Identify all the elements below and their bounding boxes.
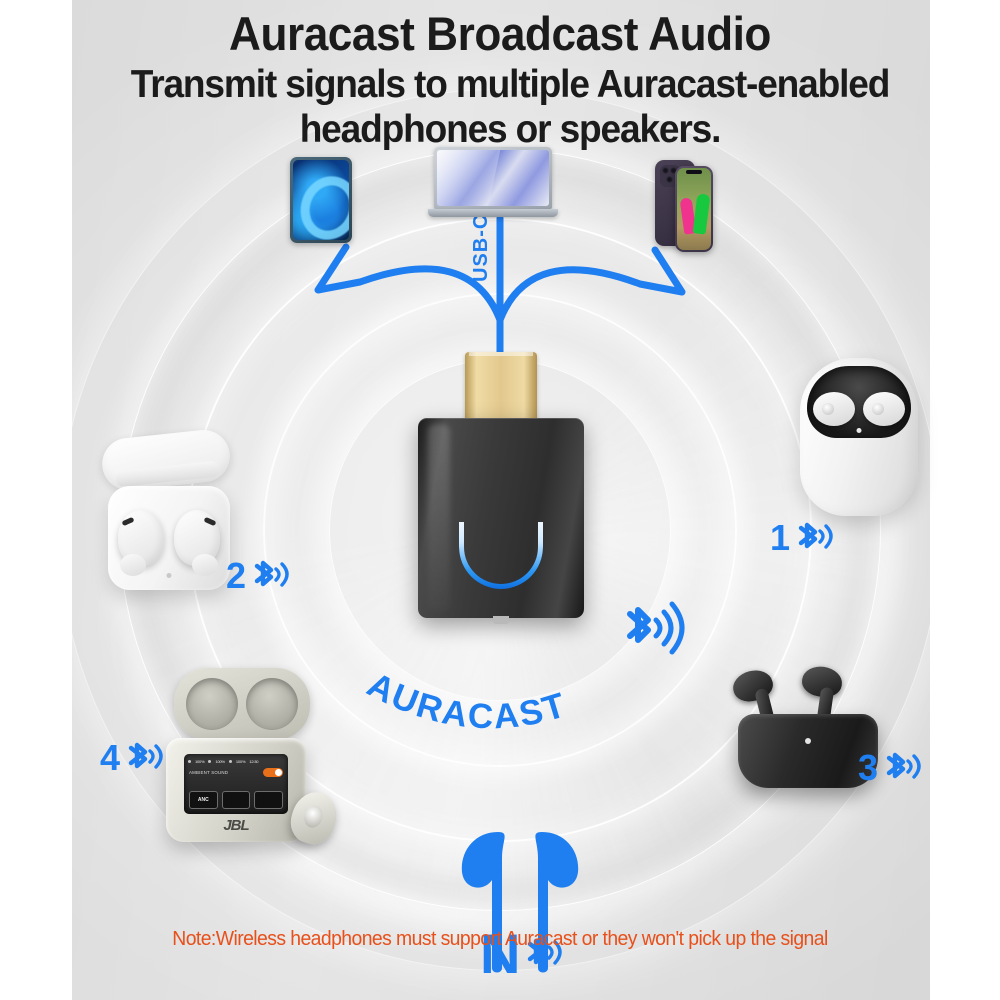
receiver-4-label: 4 bbox=[100, 738, 169, 778]
svg-text:AURACAST: AURACAST bbox=[361, 665, 571, 737]
phone-screen bbox=[677, 168, 711, 250]
bluetooth-broadcast-icon bbox=[793, 518, 839, 558]
earbud-left bbox=[813, 392, 855, 426]
laptop-screen bbox=[437, 150, 549, 206]
case-shell bbox=[108, 486, 230, 590]
battery-left: 100% bbox=[195, 759, 204, 764]
battery-right: 100% bbox=[215, 759, 224, 764]
earbud-vent bbox=[122, 517, 135, 526]
disclaimer-note: Note:Wireless headphones must support Au… bbox=[15, 928, 985, 951]
bluetooth-broadcast-icon bbox=[123, 738, 169, 778]
battery-dot bbox=[188, 760, 191, 763]
adapter-body bbox=[418, 418, 584, 618]
laptop-lid bbox=[434, 147, 552, 209]
laptop-base bbox=[428, 209, 558, 217]
case-shell bbox=[738, 714, 878, 788]
earbud-right bbox=[174, 510, 220, 566]
case-shell bbox=[800, 358, 918, 516]
lid-cavity-right bbox=[246, 678, 298, 730]
mode-button-row: ANC bbox=[189, 791, 283, 809]
earbud-vent bbox=[204, 517, 217, 526]
phone-front-shell bbox=[675, 166, 713, 252]
battery-case: 100% bbox=[236, 759, 245, 764]
bluetooth-broadcast-icon bbox=[249, 556, 295, 596]
status-led bbox=[857, 428, 862, 433]
case-touchscreen[interactable]: 100% 100% 100% 12:30 AMBIENT SOUND ANC bbox=[184, 754, 288, 814]
phone-notch bbox=[686, 170, 702, 174]
earbud-right bbox=[863, 392, 905, 426]
receiver-number: 1 bbox=[770, 520, 790, 556]
u-shaped-led-icon bbox=[459, 522, 543, 589]
earbud-tip bbox=[120, 554, 146, 576]
status-led bbox=[167, 573, 172, 578]
clock: 12:30 bbox=[249, 759, 258, 764]
adapter-bottom-nub bbox=[493, 616, 509, 624]
jbl-logo: JBL bbox=[223, 817, 248, 834]
source-device-laptop bbox=[428, 147, 558, 219]
wallpaper-figure-green bbox=[693, 193, 711, 234]
bluetooth-broadcast-icon bbox=[881, 748, 927, 788]
lid-cavity-left bbox=[186, 678, 238, 730]
ambient-button[interactable] bbox=[222, 791, 251, 809]
battery-dot bbox=[229, 760, 232, 763]
tablet-screen bbox=[293, 160, 349, 240]
battery-row: 100% 100% 100% 12:30 bbox=[188, 758, 284, 765]
receiver-3-label: 3 bbox=[858, 748, 927, 788]
receiver-2-label: 2 bbox=[226, 556, 295, 596]
case-lid bbox=[174, 668, 310, 740]
bluetooth-broadcast-icon bbox=[612, 600, 688, 666]
ambient-sound-toggle[interactable] bbox=[263, 768, 283, 777]
anc-button[interactable]: ANC bbox=[189, 791, 218, 809]
ambient-sound-label: AMBIENT SOUND bbox=[189, 770, 228, 775]
case-lid bbox=[100, 427, 233, 492]
usbc-label: USB-C bbox=[470, 214, 493, 282]
auracast-usb-adapter bbox=[418, 352, 584, 624]
receiver-number: 4 bbox=[100, 740, 120, 776]
off-button[interactable] bbox=[254, 791, 283, 809]
source-device-smartphone bbox=[655, 160, 713, 252]
receiver-4-jbl-tour-pro-case: 100% 100% 100% 12:30 AMBIENT SOUND ANC J… bbox=[160, 668, 330, 848]
earbud-left bbox=[118, 510, 164, 566]
earbud-tip bbox=[192, 554, 218, 576]
receiver-1-white-earbuds-case bbox=[800, 358, 918, 516]
receiver-1-label: 1 bbox=[770, 518, 839, 558]
case-shell: 100% 100% 100% 12:30 AMBIENT SOUND ANC J… bbox=[166, 738, 306, 842]
usbc-connector bbox=[465, 352, 537, 424]
receiver-number: 3 bbox=[858, 750, 878, 786]
receiver-2-galaxy-buds-case bbox=[96, 434, 246, 594]
battery-dot bbox=[208, 760, 211, 763]
infographic-canvas: Auracast Broadcast Audio Transmit signal… bbox=[0, 0, 1000, 1000]
source-device-tablet bbox=[290, 157, 352, 243]
receiver-number: 2 bbox=[226, 558, 246, 594]
